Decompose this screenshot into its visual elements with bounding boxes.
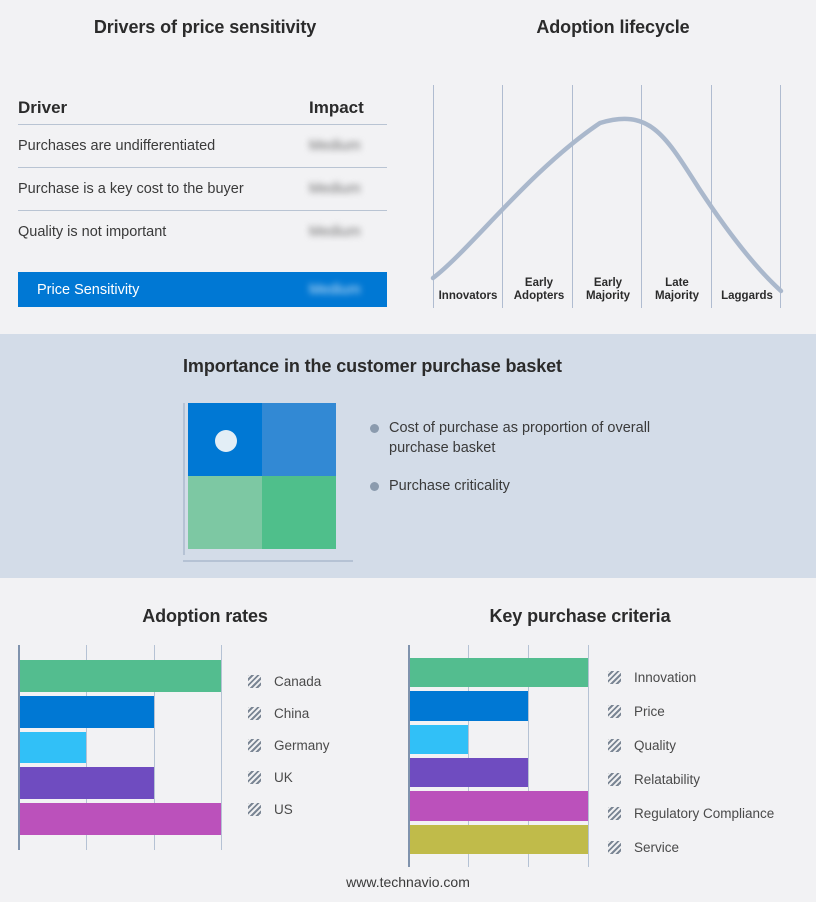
legend-item: US (248, 793, 330, 825)
bar-service (410, 825, 588, 854)
driver-label: Quality is not important (18, 224, 309, 240)
summary-impact-redacted: Medium (309, 282, 387, 298)
matrix-y-axis (183, 403, 185, 555)
bar-row (18, 658, 223, 694)
bar-row (408, 656, 590, 689)
legend-item: Service (608, 830, 774, 864)
bar-us (20, 803, 221, 835)
criteria-plot-area (408, 645, 590, 867)
bar-row (408, 823, 590, 856)
drivers-panel-title: Drivers of price sensitivity (0, 17, 410, 38)
stage-label-innovators: Innovators (422, 290, 514, 303)
legend-label: Germany (274, 738, 330, 753)
matrix-position-marker (215, 430, 237, 452)
hatched-swatch-icon (608, 773, 621, 786)
bar-row (408, 756, 590, 789)
hatched-swatch-icon (608, 739, 621, 752)
adoption-panel-title: Adoption rates (0, 606, 410, 627)
quadrant-top-right (262, 403, 336, 476)
lifecycle-stage-labels: Innovators Early Adopters Early Majority… (410, 60, 816, 320)
legend-label: Canada (274, 674, 321, 689)
price-sensitivity-summary-row: Price Sensitivity Medium (18, 272, 387, 307)
bar-price (410, 691, 528, 720)
legend-label: Cost of purchase as proportion of overal… (389, 418, 654, 458)
column-header-impact: Impact (309, 98, 387, 118)
key-purchase-criteria-chart: Innovation Price Quality Relatability Re… (408, 645, 808, 867)
bar-row (408, 723, 590, 756)
bar-row (408, 789, 590, 822)
driver-label: Purchase is a key cost to the buyer (18, 181, 309, 197)
legend-label: UK (274, 770, 293, 785)
criteria-panel-title: Key purchase criteria (400, 606, 760, 627)
plot-top-pad (18, 645, 223, 658)
quadrant-bottom-right (262, 476, 336, 549)
adoption-lifecycle-chart: Innovators Early Adopters Early Majority… (410, 60, 816, 320)
driver-label: Purchases are undifferentiated (18, 138, 309, 154)
legend-label: Regulatory Compliance (634, 806, 774, 821)
hatched-swatch-icon (248, 803, 261, 816)
hatched-swatch-icon (248, 707, 261, 720)
hatched-swatch-icon (248, 771, 261, 784)
hatched-swatch-icon (608, 671, 621, 684)
basket-panel-title: Importance in the customer purchase bask… (0, 356, 745, 377)
legend-label: Innovation (634, 670, 696, 685)
lifecycle-panel-title: Adoption lifecycle (410, 17, 816, 38)
hatched-swatch-icon (608, 841, 621, 854)
bar-uk (20, 767, 154, 799)
legend-item: UK (248, 761, 330, 793)
matrix-x-axis (183, 560, 353, 562)
legend-item: Canada (248, 665, 330, 697)
impact-value-redacted: Medium (309, 224, 387, 240)
hatched-swatch-icon (608, 807, 621, 820)
bar-germany (20, 732, 86, 764)
hatched-swatch-icon (608, 705, 621, 718)
bar-row (408, 689, 590, 722)
legend-label: Service (634, 840, 679, 855)
legend-label: China (274, 706, 309, 721)
legend-item: Quality (608, 728, 774, 762)
bar-canada (20, 660, 221, 692)
legend-item: Purchase criticality (370, 476, 670, 496)
legend-item: Cost of purchase as proportion of overal… (370, 418, 670, 458)
bullet-dot-icon (370, 424, 379, 433)
plot-top-pad (408, 645, 590, 656)
adoption-plot-area (18, 645, 223, 850)
bar-china (20, 696, 154, 728)
stage-label-laggards: Laggards (712, 290, 782, 303)
stage-label-late-majority: Late Majority (642, 277, 712, 303)
stage-label-early-majority: Early Majority (573, 277, 643, 303)
adoption-rates-chart: Canada China Germany UK US (18, 645, 388, 850)
infographic-page: Drivers of price sensitivity Driver Impa… (0, 0, 816, 902)
table-row: Purchases are undifferentiated Medium (18, 125, 387, 168)
bar-row (18, 694, 223, 730)
criteria-legend: Innovation Price Quality Relatability Re… (608, 660, 774, 864)
bullet-dot-icon (370, 482, 379, 491)
purchase-basket-matrix (182, 403, 358, 568)
legend-label: Price (634, 704, 665, 719)
bar-relatability (410, 758, 528, 787)
legend-item: Innovation (608, 660, 774, 694)
impact-value-redacted: Medium (309, 138, 387, 154)
legend-item: China (248, 697, 330, 729)
drivers-table: Driver Impact Purchases are undifferenti… (18, 92, 387, 253)
legend-label: Purchase criticality (389, 476, 510, 496)
legend-item: Relatability (608, 762, 774, 796)
footer-url: www.technavio.com (0, 874, 816, 890)
hatched-swatch-icon (248, 675, 261, 688)
plot-bottom-pad (408, 856, 590, 867)
plot-bottom-pad (18, 837, 223, 850)
legend-item: Price (608, 694, 774, 728)
legend-item: Regulatory Compliance (608, 796, 774, 830)
bar-row (18, 765, 223, 801)
bar-regulatory-compliance (410, 791, 588, 820)
hatched-swatch-icon (248, 739, 261, 752)
legend-label: Quality (634, 738, 676, 753)
legend-item: Germany (248, 729, 330, 761)
quadrant-bottom-left (188, 476, 262, 549)
impact-value-redacted: Medium (309, 181, 387, 197)
bar-row (18, 801, 223, 837)
adoption-bar-rows (18, 645, 223, 850)
adoption-legend: Canada China Germany UK US (248, 665, 330, 825)
bar-row (18, 730, 223, 766)
table-header-row: Driver Impact (18, 92, 387, 125)
basket-legend: Cost of purchase as proportion of overal… (370, 418, 670, 514)
criteria-bar-rows (408, 645, 590, 867)
legend-label: US (274, 802, 293, 817)
bar-innovation (410, 658, 588, 687)
stage-label-early-adopters: Early Adopters (504, 277, 574, 303)
matrix-quadrants (188, 403, 336, 549)
bar-quality (410, 725, 468, 754)
summary-label: Price Sensitivity (18, 282, 309, 298)
table-row: Purchase is a key cost to the buyer Medi… (18, 168, 387, 211)
quadrant-top-left (188, 403, 262, 476)
table-row: Quality is not important Medium (18, 211, 387, 253)
column-header-driver: Driver (18, 98, 309, 118)
legend-label: Relatability (634, 772, 700, 787)
